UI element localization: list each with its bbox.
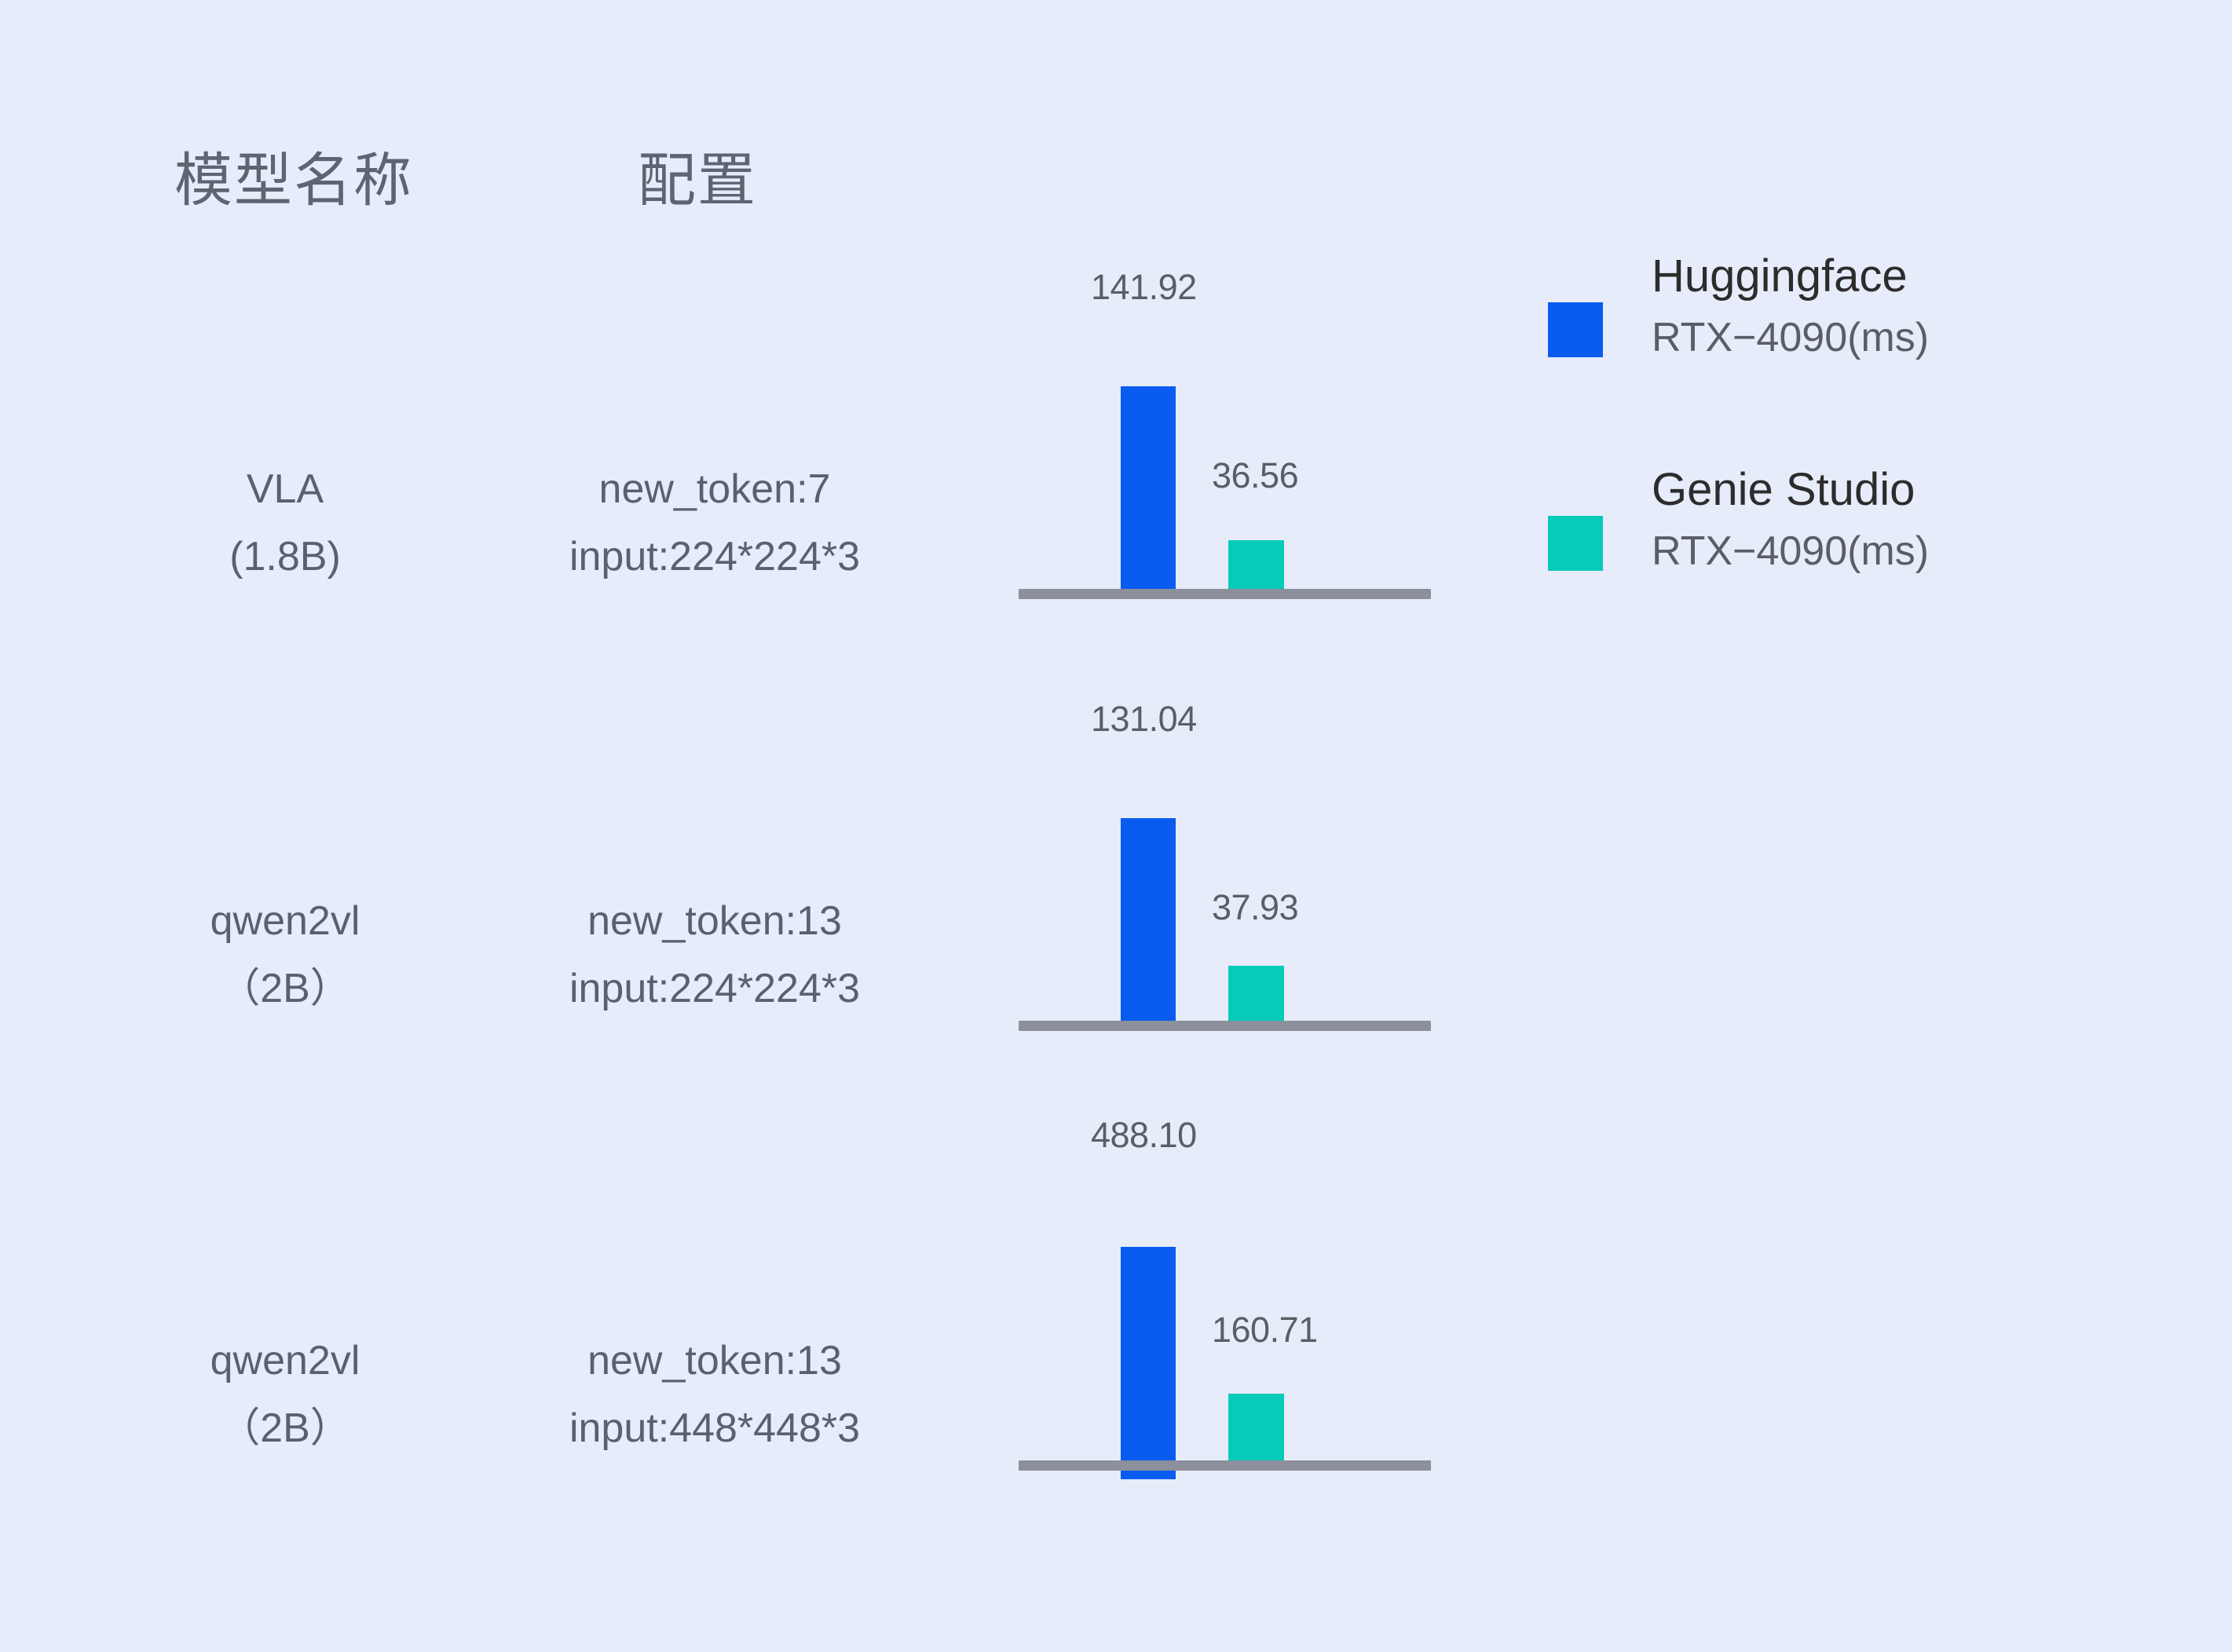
bar-group	[1019, 682, 1431, 1025]
bar-genie-studio[interactable]	[1228, 540, 1284, 594]
legend-subtitle: RTX−4090(ms)	[1652, 314, 1929, 361]
row-config-label: new_token:7 input:224*224*3	[471, 455, 958, 590]
row-baseline	[1019, 1021, 1431, 1031]
bar-huggingface[interactable]	[1121, 1247, 1176, 1479]
row-config-line1: new_token:13	[471, 1327, 958, 1394]
row-model-line1: qwen2vl	[156, 1327, 415, 1394]
row-model-label: qwen2vl （2B）	[156, 1327, 415, 1462]
row-baseline	[1019, 589, 1431, 599]
bar-genie-studio[interactable]	[1228, 966, 1284, 1025]
row-model-line2: (1.8B)	[156, 523, 415, 590]
bar-group	[1019, 1098, 1431, 1470]
legend-swatch-huggingface	[1548, 302, 1603, 357]
row-config-label: new_token:13 input:224*224*3	[471, 887, 958, 1022]
row-plot-area: 488.10 160.71	[1019, 1098, 1431, 1490]
row-model-line2: （2B）	[156, 955, 415, 1022]
row-model-label: qwen2vl （2B）	[156, 887, 415, 1022]
column-header-config: 配置	[638, 133, 757, 217]
bar-huggingface[interactable]	[1121, 818, 1176, 1025]
row-plot-area: 131.04 37.93	[1019, 682, 1431, 1051]
bar-huggingface[interactable]	[1121, 386, 1176, 594]
row-config-line1: new_token:7	[471, 455, 958, 523]
row-config-line2: input:224*224*3	[471, 955, 958, 1022]
row-config-line1: new_token:13	[471, 887, 958, 955]
bar-genie-studio[interactable]	[1228, 1394, 1284, 1470]
row-config-line2: input:224*224*3	[471, 523, 958, 590]
legend-title: Genie Studio	[1652, 463, 1915, 516]
row-config-label: new_token:13 input:448*448*3	[471, 1327, 958, 1462]
column-header-model-name: 模型名称	[174, 133, 413, 217]
chart-canvas: 模型名称 配置 VLA (1.8B) new_token:7 input:224…	[0, 0, 2232, 1652]
row-model-line2: （2B）	[156, 1394, 415, 1462]
row-model-line1: VLA	[156, 455, 415, 523]
chart-row: qwen2vl （2B） new_token:13 input:448*448*…	[0, 1098, 2232, 1490]
row-config-line2: input:448*448*3	[471, 1394, 958, 1462]
bar-group	[1019, 250, 1431, 594]
row-baseline	[1019, 1460, 1431, 1471]
legend-subtitle: RTX−4090(ms)	[1652, 528, 1929, 575]
chart-row: qwen2vl （2B） new_token:13 input:224*224*…	[0, 682, 2232, 1051]
row-model-line1: qwen2vl	[156, 887, 415, 955]
legend-title: Huggingface	[1652, 250, 1908, 302]
legend-swatch-genie-studio	[1548, 516, 1603, 571]
row-plot-area: 141.92 36.56	[1019, 250, 1431, 619]
row-model-label: VLA (1.8B)	[156, 455, 415, 590]
